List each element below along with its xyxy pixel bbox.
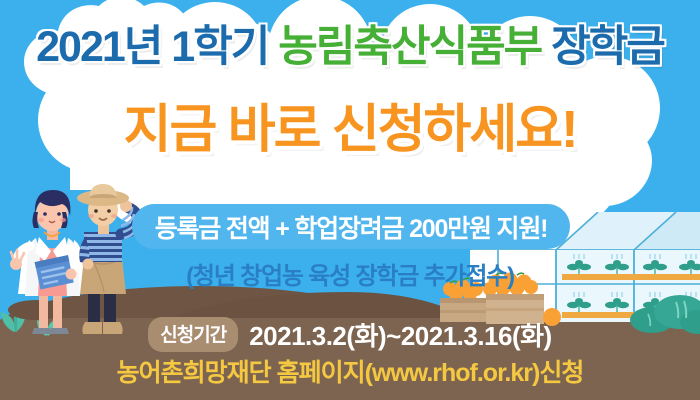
benefit-pill: 등록금 전액 + 학업장려금 200만원 지원! [132,204,570,249]
headline-part3: 장학금 [541,23,664,71]
page-title: 2021년 1학기 농림축산식품부 장학금 [0,26,700,69]
headline-part1: 2021년 1학기 [36,23,278,71]
scholarship-banner: 2021년 1학기 농림축산식품부 장학금 지금 바로 신청하세요! 등록금 전… [0,0,700,400]
benefit-pill-text: 등록금 전액 + 학업장려금 200만원 지원! [155,209,548,245]
subheadline-text: 지금 바로 신청하세요! [124,101,577,159]
subheadline: 지금 바로 신청하세요! [0,104,700,156]
additional-note-text: (청년 창업농 육성 장학금 추가접수) [186,263,514,290]
period-badge: 신청기간 [148,317,238,352]
application-period-row: 신청기간 2021.3.2(화)~2021.3.16(화) [0,316,700,353]
period-dates: 2021.3.2(화)~2021.3.16(화) [249,316,552,353]
additional-note: (청년 창업농 육성 장학금 추가접수) [0,256,700,291]
website-line-text: 농어촌희망재단 홈페이지(www.rhof.or.kr)신청 [117,359,584,387]
headline-part2: 농림축산식품부 [278,23,541,71]
website-line: 농어촌희망재단 홈페이지(www.rhof.or.kr)신청 [0,353,700,389]
